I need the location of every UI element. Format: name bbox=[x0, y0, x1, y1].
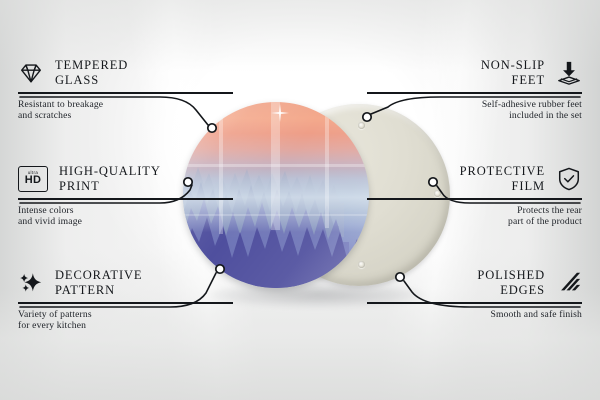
feature-description: Resistant to breakage and scratches bbox=[18, 99, 233, 122]
feature-non-slip-feet: NON-SLIP FEET Self-adhesive rubber feet … bbox=[367, 58, 582, 122]
feature-decorative-pattern: DECORATIVE PATTERN Variety of patterns f… bbox=[18, 268, 233, 332]
feature-title: TEMPERED GLASS bbox=[55, 58, 128, 87]
feature-divider bbox=[367, 92, 582, 94]
press-down-pad-icon bbox=[556, 60, 582, 86]
feature-header: NON-SLIP FEET bbox=[367, 58, 582, 87]
feature-title: POLISHED EDGES bbox=[477, 268, 545, 297]
feature-divider bbox=[367, 198, 582, 200]
feature-high-quality-print: ultra HD HIGH-QUALITY PRINT Intense colo… bbox=[18, 164, 233, 228]
feature-title: PROTECTIVE FILM bbox=[460, 164, 545, 193]
feature-description: Self-adhesive rubber feet included in th… bbox=[367, 99, 582, 122]
feature-protective-film: PROTECTIVE FILM Protects the rear part o… bbox=[367, 164, 582, 228]
feature-divider bbox=[18, 302, 233, 304]
feature-header: TEMPERED GLASS bbox=[18, 58, 233, 87]
feature-header: POLISHED EDGES bbox=[367, 268, 582, 297]
feature-title: NON-SLIP FEET bbox=[481, 58, 545, 87]
feature-description: Protects the rear part of the product bbox=[367, 205, 582, 228]
feature-polished-edges: POLISHED EDGES Smooth and safe finish bbox=[367, 268, 582, 320]
feature-divider bbox=[18, 92, 233, 94]
glass-sparkle bbox=[271, 112, 289, 114]
feature-header: PROTECTIVE FILM bbox=[367, 164, 582, 193]
feature-description: Variety of patterns for every kitchen bbox=[18, 309, 233, 332]
infographic-canvas: TEMPERED GLASS Resistant to breakage and… bbox=[0, 0, 600, 400]
feature-description: Smooth and safe finish bbox=[367, 309, 582, 321]
feature-title: DECORATIVE PATTERN bbox=[55, 268, 142, 297]
feature-title: HIGH-QUALITY PRINT bbox=[59, 164, 161, 193]
ultra-hd-icon: ultra HD bbox=[18, 166, 48, 192]
shield-check-icon bbox=[556, 166, 582, 192]
feature-header: ultra HD HIGH-QUALITY PRINT bbox=[18, 164, 233, 193]
diamond-icon bbox=[18, 60, 44, 86]
feature-divider bbox=[18, 198, 233, 200]
diagonal-lines-icon bbox=[556, 270, 582, 296]
sparkles-icon bbox=[18, 270, 44, 296]
feature-tempered-glass: TEMPERED GLASS Resistant to breakage and… bbox=[18, 58, 233, 122]
feature-header: DECORATIVE PATTERN bbox=[18, 268, 233, 297]
feature-divider bbox=[367, 302, 582, 304]
feature-description: Intense colors and vivid image bbox=[18, 205, 233, 228]
